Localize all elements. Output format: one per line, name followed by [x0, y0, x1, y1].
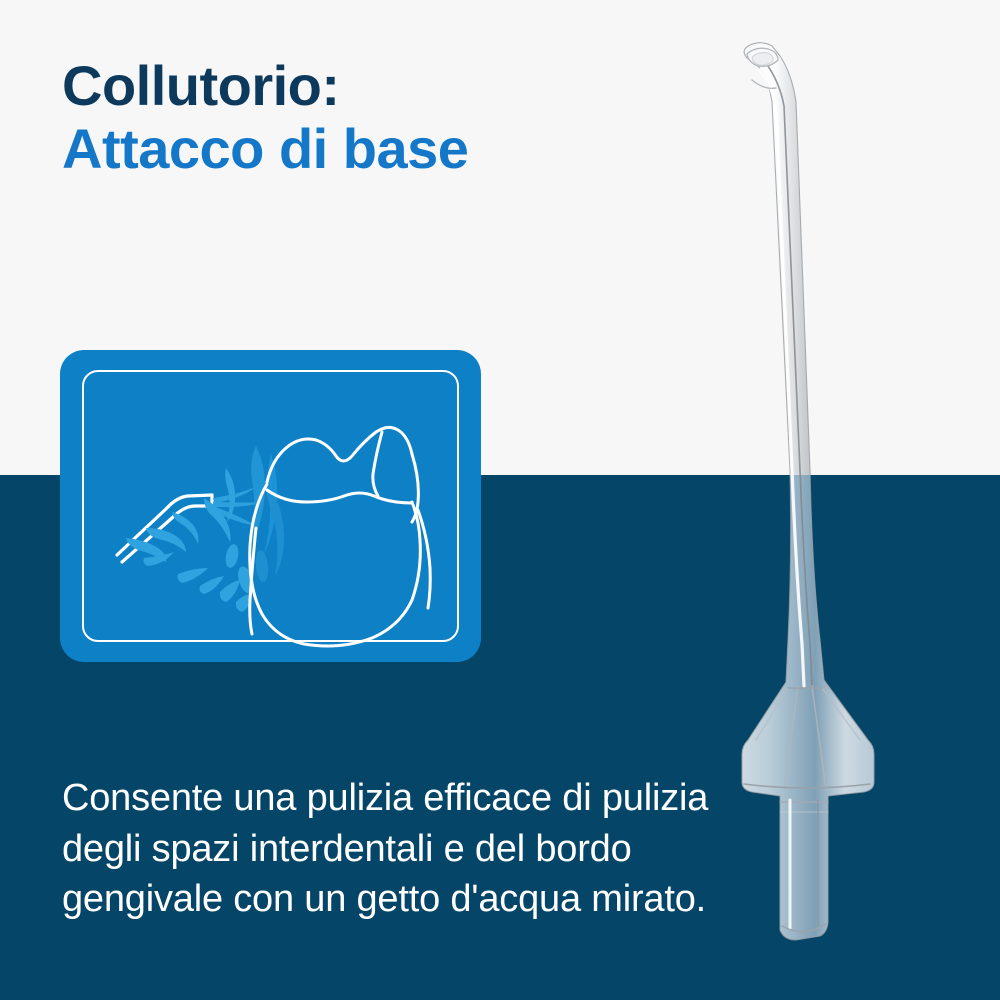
description-text: Consente una pulizia efficace di pulizia… [62, 773, 762, 925]
card-inner-border [82, 370, 459, 642]
illustration-card [60, 350, 481, 662]
promo-card: Collutorio: Attacco di base [0, 0, 1000, 1000]
title-line-primary: Collutorio: [62, 54, 702, 117]
page-title: Collutorio: Attacco di base [62, 54, 702, 181]
title-line-secondary: Attacco di base [62, 117, 702, 180]
